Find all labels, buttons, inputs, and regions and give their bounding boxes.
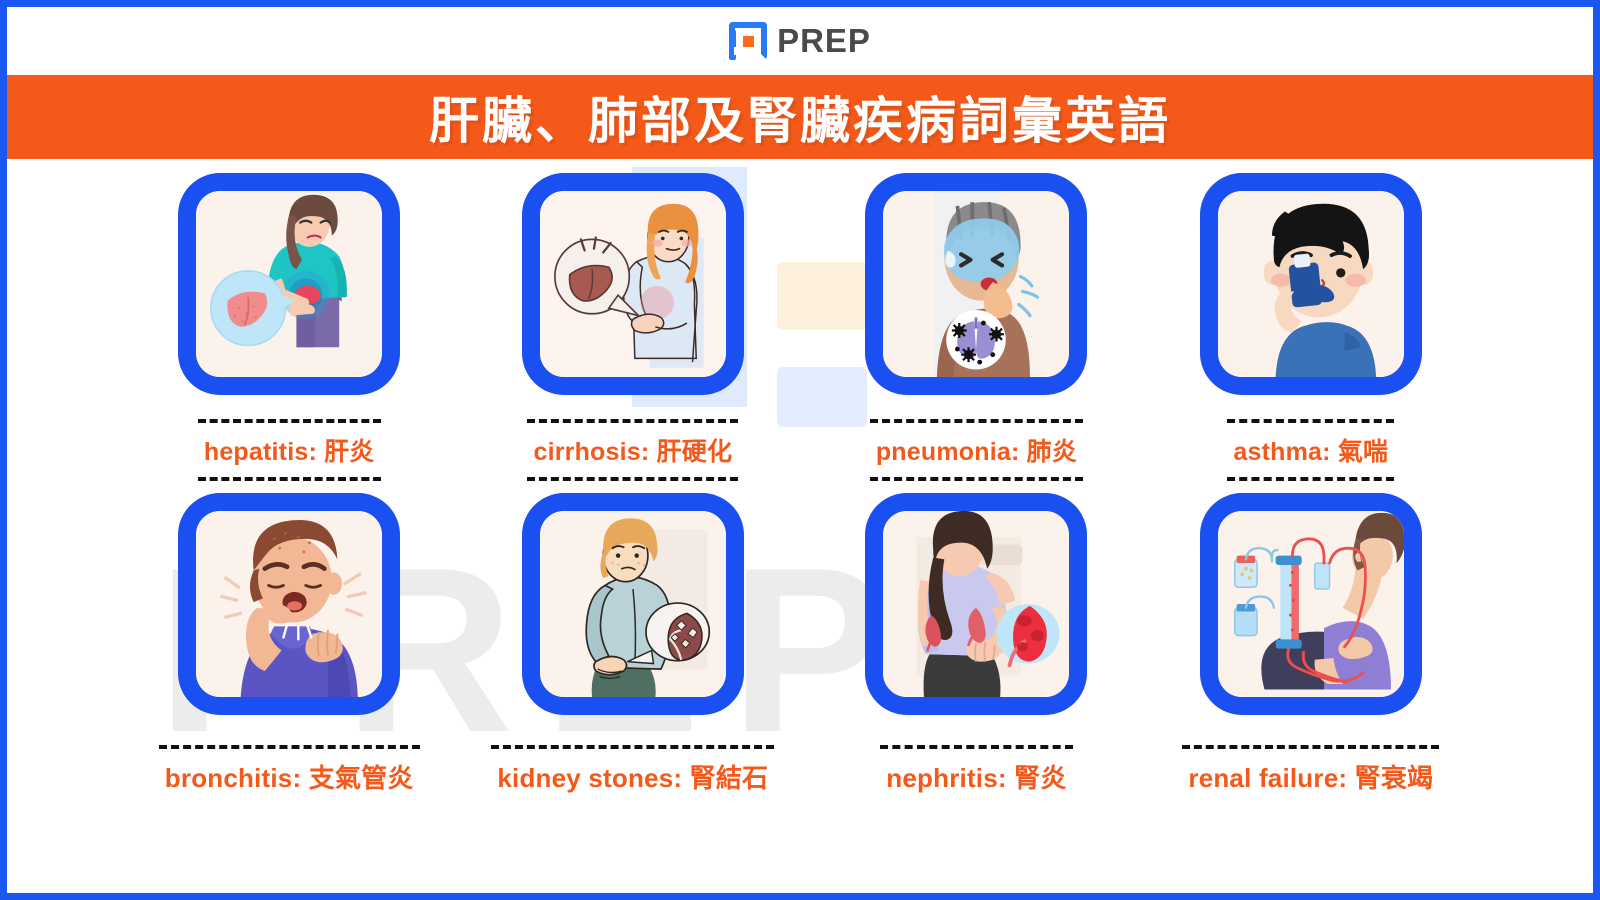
illustration-woman-abdominal-pain-liver-magnified: [196, 191, 382, 377]
illustration-patient-on-dialysis-machine: [1218, 511, 1404, 697]
brand-logo-text: PREP: [777, 22, 871, 60]
vocab-card-kidney-stones[interactable]: kidney stones: 腎結石: [491, 493, 774, 795]
card-label-wrap-cirrhosis: cirrhosis: 肝硬化: [527, 419, 738, 481]
card-image-hepatitis: [178, 173, 400, 395]
card-label-nephritis: nephritis: 腎炎: [886, 758, 1066, 795]
card-image-pneumonia: [865, 173, 1087, 395]
illustration-man-coughing-fever-infected-lungs: [883, 191, 1069, 377]
card-label-cirrhosis: cirrhosis: 肝硬化: [533, 432, 732, 468]
card-label-pneumonia: pneumonia: 肺炎: [876, 432, 1077, 468]
card-label-wrap-asthma: asthma: 氣喘: [1227, 419, 1394, 481]
card-label-wrap-kidney-stones: kidney stones: 腎結石: [491, 745, 774, 795]
vocab-card-cirrhosis[interactable]: cirrhosis: 肝硬化: [491, 173, 774, 481]
card-label-asthma: asthma: 氣喘: [1233, 432, 1388, 468]
card-label-wrap-hepatitis: hepatitis: 肝炎: [198, 419, 381, 481]
illustration-boy-using-blue-inhaler: [1218, 191, 1404, 377]
card-image-renal-failure: [1200, 493, 1422, 715]
vocab-card-hepatitis[interactable]: hepatitis: 肝炎: [157, 173, 421, 481]
card-label-kidney-stones: kidney stones: 腎結石: [497, 758, 768, 795]
card-label-renal-failure: renal failure: 腎衰竭: [1188, 758, 1433, 795]
illustration-man-back-pain-kidney-magnified: [540, 511, 726, 697]
illustration-man-coughing-hand-on-chest: [196, 511, 382, 697]
page-title: 肝臟、肺部及腎臟疾病詞彙英語: [429, 81, 1171, 153]
vocabulary-grid: hepatitis: 肝炎: [7, 159, 1593, 795]
card-label-wrap-renal-failure: renal failure: 腎衰竭: [1182, 745, 1439, 795]
card-label-bronchitis: bronchitis: 支氣管炎: [165, 758, 414, 795]
card-label-wrap-pneumonia: pneumonia: 肺炎: [870, 419, 1083, 481]
vocab-card-bronchitis[interactable]: bronchitis: 支氣管炎: [157, 493, 421, 795]
vocab-card-renal-failure[interactable]: renal failure: 腎衰竭: [1179, 493, 1443, 795]
vocab-card-nephritis[interactable]: nephritis: 腎炎: [844, 493, 1108, 795]
card-image-bronchitis: [178, 493, 400, 715]
card-label-hepatitis: hepatitis: 肝炎: [204, 432, 375, 468]
card-image-nephritis: [865, 493, 1087, 715]
illustration-woman-side-pain-liver-speech-bubble: [540, 191, 726, 377]
infographic-page: PREP PREP 肝臟、肺部及腎臟疾病詞彙英語: [0, 0, 1600, 900]
card-label-wrap-nephritis: nephritis: 腎炎: [880, 745, 1072, 795]
vocab-card-pneumonia[interactable]: pneumonia: 肺炎: [844, 173, 1108, 481]
card-image-kidney-stones: [522, 493, 744, 715]
card-image-asthma: [1200, 173, 1422, 395]
brand-logo: PREP: [729, 22, 871, 60]
page-header: PREP: [7, 7, 1593, 75]
prep-p-logo-icon: [729, 22, 767, 60]
card-image-cirrhosis: [522, 173, 744, 395]
title-banner: 肝臟、肺部及腎臟疾病詞彙英語: [7, 75, 1593, 159]
illustration-woman-back-view-inflamed-kidneys: [883, 511, 1069, 697]
vocab-card-asthma[interactable]: asthma: 氣喘: [1179, 173, 1443, 481]
card-label-wrap-bronchitis: bronchitis: 支氣管炎: [159, 745, 420, 795]
